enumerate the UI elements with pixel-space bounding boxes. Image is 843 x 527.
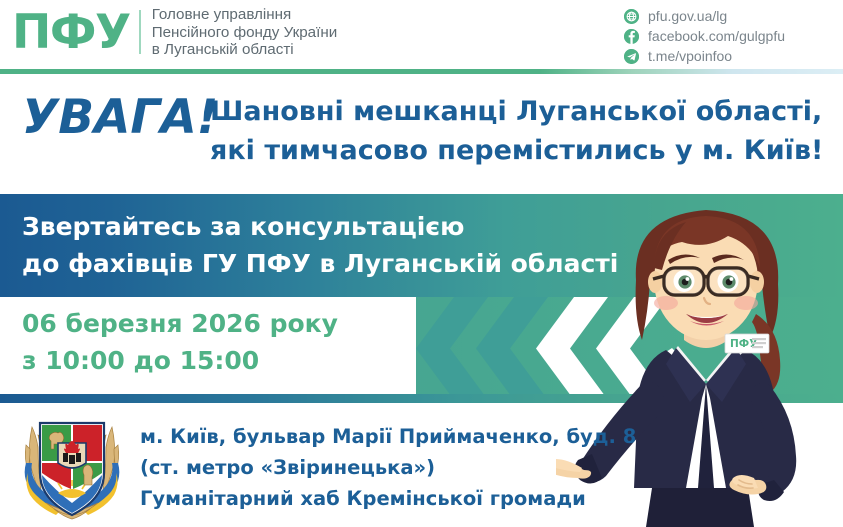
website-url: pfu.gov.ua/lg — [648, 8, 727, 24]
pfu-logo: ПФУ Головне управління Пенсійного фонду … — [12, 6, 337, 59]
headline-section: УВАГА! Шановні мешканці Луганської облас… — [0, 80, 843, 188]
poster-header: ПФУ Головне управління Пенсійного фонду … — [0, 0, 843, 70]
header-divider — [0, 69, 843, 74]
consultation-text: Звертайтесь за консультацією до фахівців… — [22, 208, 622, 282]
schedule-block: 06 березня 2026 року з 10:00 до 15:00 — [22, 305, 338, 379]
consultation-line-2: до фахівців ГУ ПФУ в Луганській області — [22, 245, 622, 282]
facebook-icon — [624, 29, 639, 44]
coat-of-arms-icon — [16, 411, 128, 525]
pfu-logo-text: ПФУ — [12, 9, 130, 56]
contact-website[interactable]: pfu.gov.ua/lg — [624, 7, 785, 26]
address-line-2: (ст. метро «Звіринецька») — [140, 452, 636, 483]
contact-facebook[interactable]: facebook.com/gulgpfu — [624, 27, 785, 46]
address-section: м. Київ, бульвар Марії Приймаченко, буд.… — [0, 407, 843, 527]
organization-name: Головне управління Пенсійного фонду Укра… — [152, 6, 338, 59]
schedule-time: з 10:00 до 15:00 — [22, 342, 338, 379]
headline-line-1: Шановні мешканці Луганської області, — [210, 92, 830, 131]
schedule-date: 06 березня 2026 року — [22, 305, 338, 342]
headline-text: Шановні мешканці Луганської області, які… — [210, 92, 830, 170]
poster: ПФУ Головне управління Пенсійного фонду … — [0, 0, 843, 527]
address-line-1: м. Київ, бульвар Марії Приймаченко, буд.… — [140, 421, 636, 452]
address-line-3: Гуманітарний хаб Кремінської громади — [140, 483, 636, 514]
logo-divider — [139, 10, 141, 54]
telegram-url: t.me/vpoinfoo — [648, 48, 732, 64]
org-line-2: Пенсійного фонду України — [152, 24, 338, 42]
attention-label: УВАГА! — [22, 92, 218, 144]
headline-line-2: які тимчасово перемістились у м. Київ! — [210, 131, 830, 170]
org-line-3: в Луганській області — [152, 41, 338, 59]
telegram-icon — [624, 49, 639, 64]
facebook-url: facebook.com/gulgpfu — [648, 28, 785, 44]
org-line-1: Головне управління — [152, 6, 338, 24]
address-text: м. Київ, бульвар Марії Приймаченко, буд.… — [140, 421, 636, 514]
consultation-line-1: Звертайтесь за консультацією — [22, 208, 622, 245]
contact-list: pfu.gov.ua/lg facebook.com/gulgpfu — [624, 7, 785, 67]
contact-telegram[interactable]: t.me/vpoinfoo — [624, 47, 785, 66]
globe-icon — [624, 9, 639, 24]
